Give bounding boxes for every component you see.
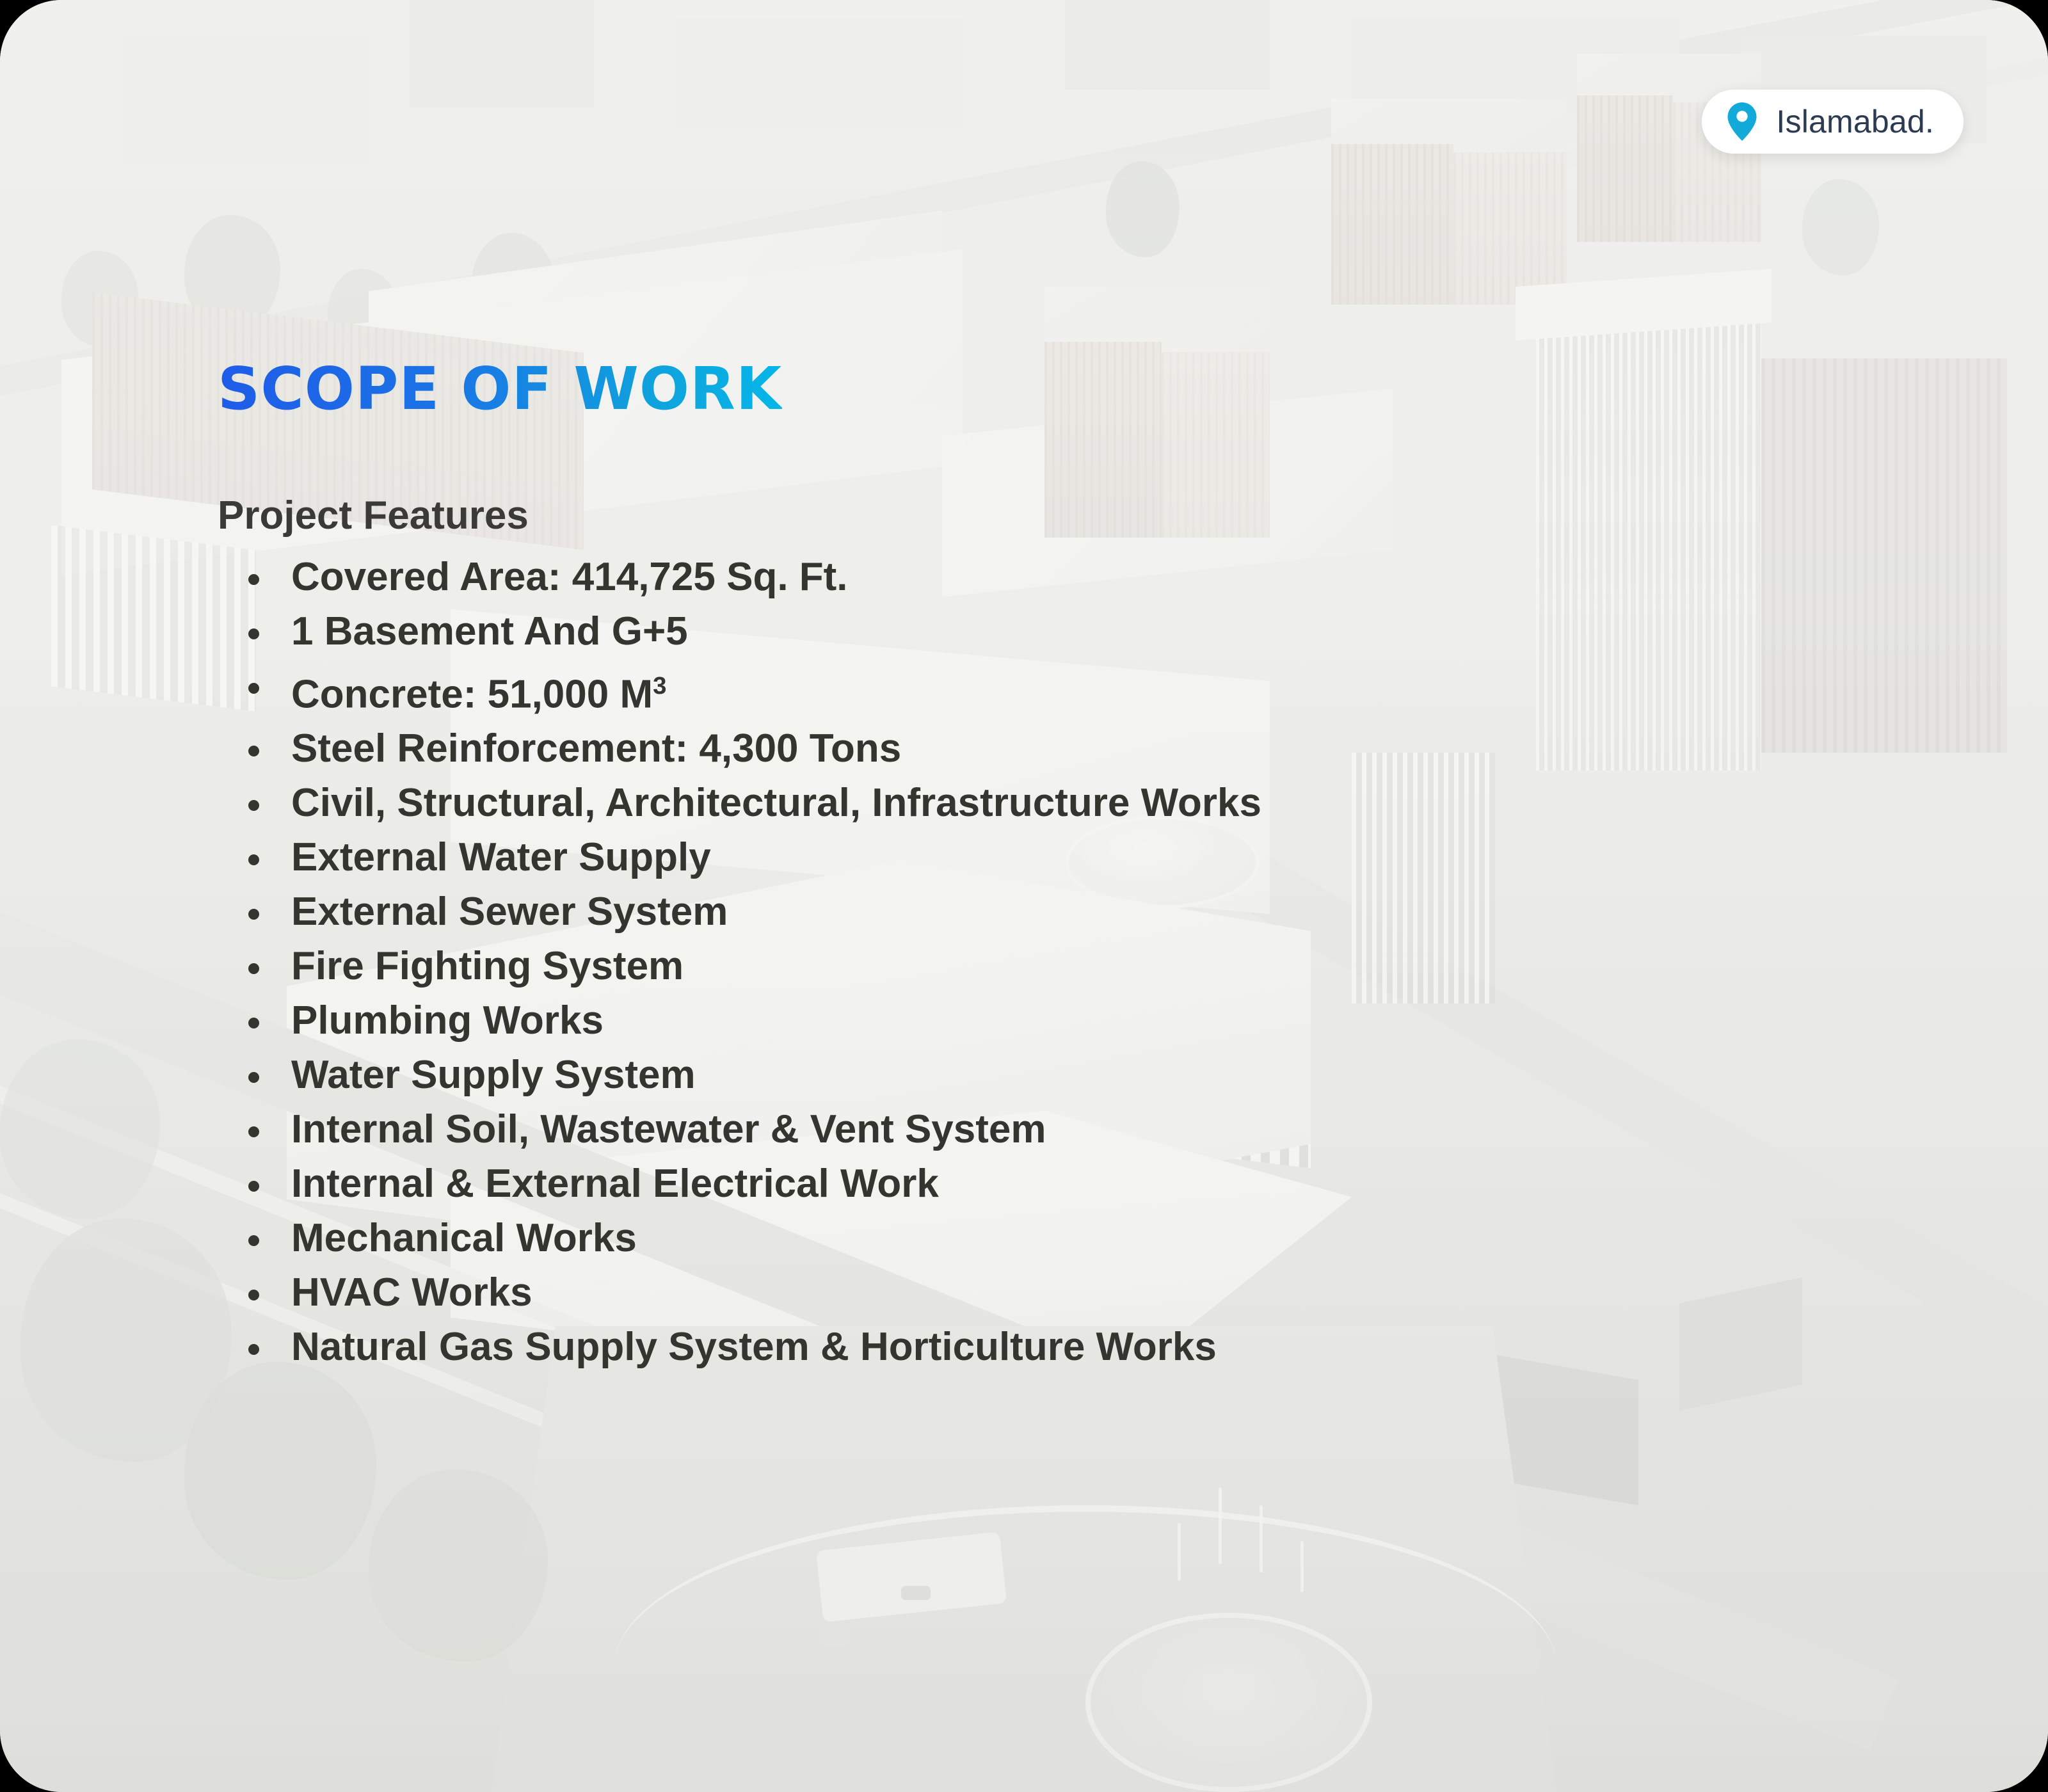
feature-item: External Sewer System — [218, 884, 1958, 939]
feature-item: Natural Gas Supply System & Horticulture… — [218, 1320, 1958, 1374]
feature-item: Internal Soil, Wastewater & Vent System — [218, 1102, 1958, 1156]
feature-item: Internal & External Electrical Work — [218, 1156, 1958, 1211]
map-pin-icon — [1727, 102, 1757, 141]
feature-item: 1 Basement And G+5 — [218, 604, 1958, 659]
feature-item: External Water Supply — [218, 830, 1958, 884]
page-title: SCOPE OF WORK — [218, 358, 782, 420]
location-label: Islamabad. — [1776, 103, 1934, 140]
content-block: SCOPE OF WORK Project Features Covered A… — [218, 358, 1958, 1374]
feature-item: Plumbing Works — [218, 993, 1958, 1048]
feature-item: Covered Area: 414,725 Sq. Ft. — [218, 550, 1958, 604]
feature-item: Steel Reinforcement: 4,300 Tons — [218, 721, 1958, 776]
feature-item: Mechanical Works — [218, 1211, 1958, 1265]
feature-item: Civil, Structural, Architectural, Infras… — [218, 776, 1958, 830]
feature-item: Water Supply System — [218, 1048, 1958, 1102]
project-features-list: Covered Area: 414,725 Sq. Ft.1 Basement … — [218, 550, 1958, 1375]
feature-item: Fire Fighting System — [218, 939, 1958, 993]
slide-card: Islamabad. SCOPE OF WORK Project Feature… — [0, 0, 2048, 1792]
feature-item: Concrete: 51,000 M3 — [218, 659, 1958, 722]
location-badge[interactable]: Islamabad. — [1702, 90, 1964, 154]
feature-item: HVAC Works — [218, 1265, 1958, 1320]
section-subheading: Project Features — [218, 496, 1958, 536]
